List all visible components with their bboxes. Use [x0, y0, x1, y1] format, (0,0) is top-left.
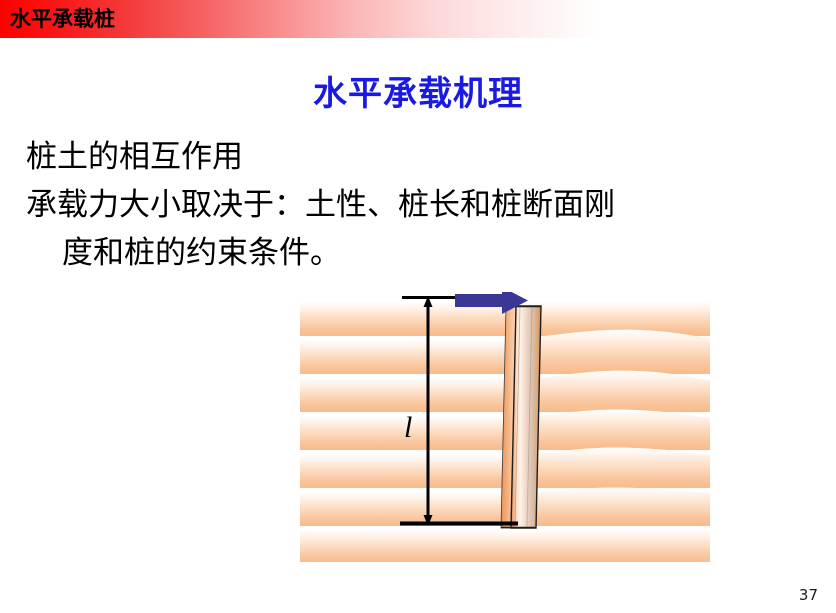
page-number: 37 [799, 586, 818, 604]
pile-element [501, 306, 541, 528]
body-line-1: 桩土的相互作用 [26, 133, 816, 181]
page-title: 水平承载机理 [0, 73, 836, 115]
soil-layers-deformed-right [528, 302, 710, 562]
dimension-label-l: l [404, 411, 412, 444]
slide-header-banner: 水平承载桩 [0, 0, 836, 38]
body-line-3: 度和桩的约束条件。 [26, 229, 816, 277]
header-banner-label: 水平承载桩 [10, 5, 115, 33]
slide-body-text: 桩土的相互作用 承载力大小取决于：土性、桩长和桩断面刚 度和桩的约束条件。 [26, 133, 816, 277]
body-line-2: 承载力大小取决于：土性、桩长和桩断面刚 [26, 181, 816, 229]
laterally-loaded-pile-diagram: l [300, 292, 710, 562]
